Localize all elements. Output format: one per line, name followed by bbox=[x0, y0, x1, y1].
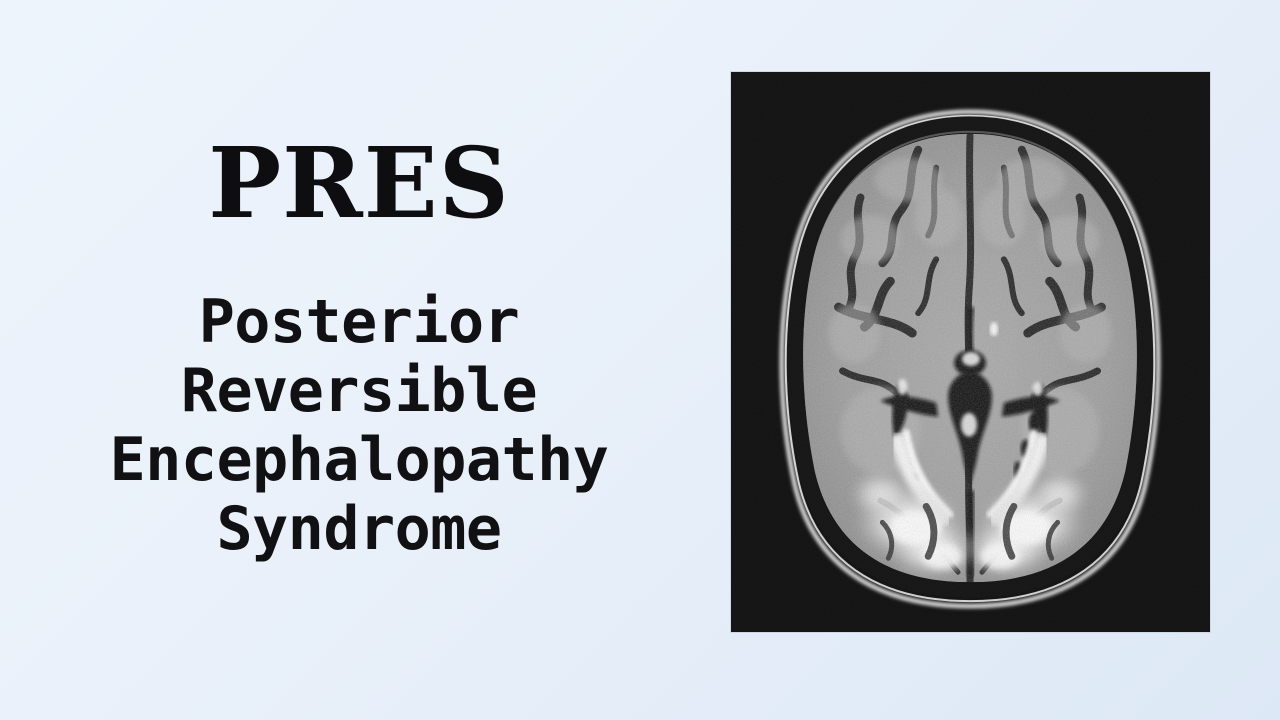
brain-mri-svg bbox=[731, 72, 1210, 632]
subtitle-block: Posterior Reversible Encephalopathy Synd… bbox=[0, 288, 718, 564]
page-title: PRES bbox=[0, 135, 718, 232]
slide-canvas: PRES Posterior Reversible Encephalopathy… bbox=[0, 0, 1280, 720]
subtitle-line-3: Encephalopathy bbox=[0, 426, 718, 495]
text-column: PRES Posterior Reversible Encephalopathy… bbox=[0, 0, 718, 720]
subtitle-line-4: Syndrome bbox=[0, 495, 718, 564]
subtitle-line-1: Posterior bbox=[0, 288, 718, 357]
subtitle-line-2: Reversible bbox=[0, 357, 718, 426]
brain-mri-image bbox=[730, 71, 1211, 633]
